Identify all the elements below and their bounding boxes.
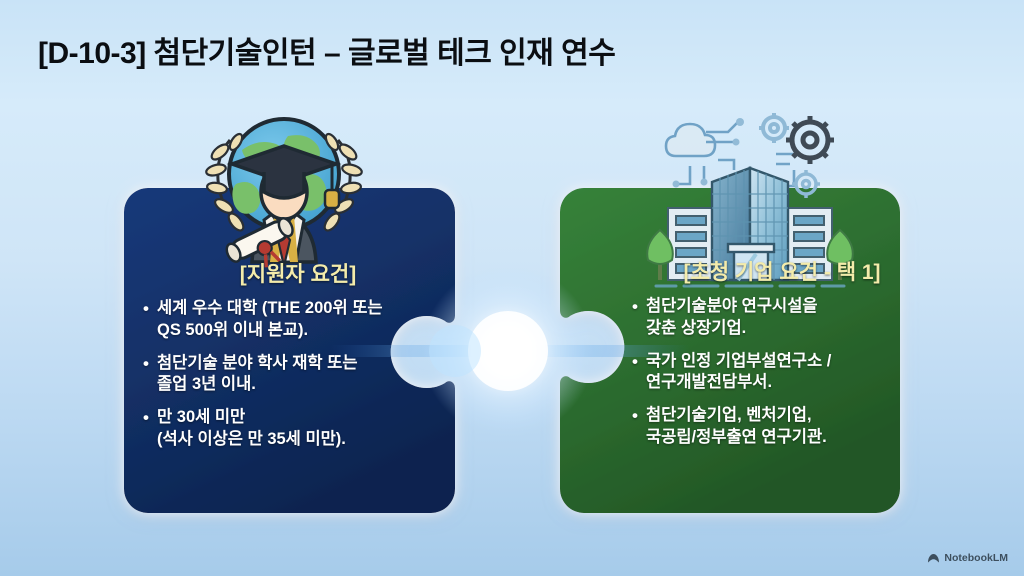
left-piece-bullet-list: • 세계 우수 대학 (THE 200위 또는 QS 500위 이내 본교). … bbox=[143, 298, 453, 451]
bullet-marker-icon: • bbox=[632, 405, 646, 449]
list-item: • 만 30세 미만 (석사 이상은 만 35세 미만). bbox=[143, 407, 453, 451]
list-item: • 세계 우수 대학 (THE 200위 또는 QS 500위 이내 본교). bbox=[143, 298, 453, 342]
bullet-text: 첨단기술 분야 학사 재학 또는 졸업 3년 이내. bbox=[157, 353, 453, 397]
bullet-text: 첨단기술기업, 벤처기업, 국공립/정부출연 연구기관. bbox=[646, 405, 932, 449]
notebooklm-label: NotebookLM bbox=[944, 552, 1008, 564]
list-item: • 첨단기술 분야 학사 재학 또는 졸업 3년 이내. bbox=[143, 353, 453, 397]
bullet-marker-icon: • bbox=[632, 351, 646, 395]
right-piece-heading: [초청 기업 요건 - 택 1] bbox=[632, 256, 932, 286]
bullet-text: 만 30세 미만 (석사 이상은 만 35세 미만). bbox=[157, 407, 453, 451]
list-item: • 국가 인정 기업부설연구소 / 연구개발전담부서. bbox=[632, 351, 932, 395]
list-item: • 첨단기술분야 연구시설을 갖춘 상장기업. bbox=[632, 296, 932, 340]
right-piece-bullet-list: • 첨단기술분야 연구시설을 갖춘 상장기업. • 국가 인정 기업부설연구소 … bbox=[632, 296, 932, 449]
notebooklm-logo-icon bbox=[927, 553, 940, 564]
bullet-text: 첨단기술분야 연구시설을 갖춘 상장기업. bbox=[646, 296, 932, 340]
notebooklm-watermark: NotebookLM bbox=[927, 552, 1008, 564]
bullet-marker-icon: • bbox=[143, 298, 157, 342]
right-piece-content: [초청 기업 요건 - 택 1] • 첨단기술분야 연구시설을 갖춘 상장기업.… bbox=[632, 256, 932, 460]
bullet-text: 세계 우수 대학 (THE 200위 또는 QS 500위 이내 본교). bbox=[157, 298, 453, 342]
left-piece-heading: [지원자 요건] bbox=[143, 258, 453, 288]
list-item: • 첨단기술기업, 벤처기업, 국공립/정부출연 연구기관. bbox=[632, 405, 932, 449]
bullet-marker-icon: • bbox=[143, 353, 157, 397]
bullet-marker-icon: • bbox=[632, 296, 646, 340]
bullet-marker-icon: • bbox=[143, 407, 157, 451]
left-piece-content: [지원자 요건] • 세계 우수 대학 (THE 200위 또는 QS 500위… bbox=[143, 258, 453, 462]
bullet-text: 국가 인정 기업부설연구소 / 연구개발전담부서. bbox=[646, 351, 932, 395]
slide-canvas: [D-10-3] 첨단기술인턴 – 글로벌 테크 인재 연수 bbox=[0, 0, 1024, 576]
